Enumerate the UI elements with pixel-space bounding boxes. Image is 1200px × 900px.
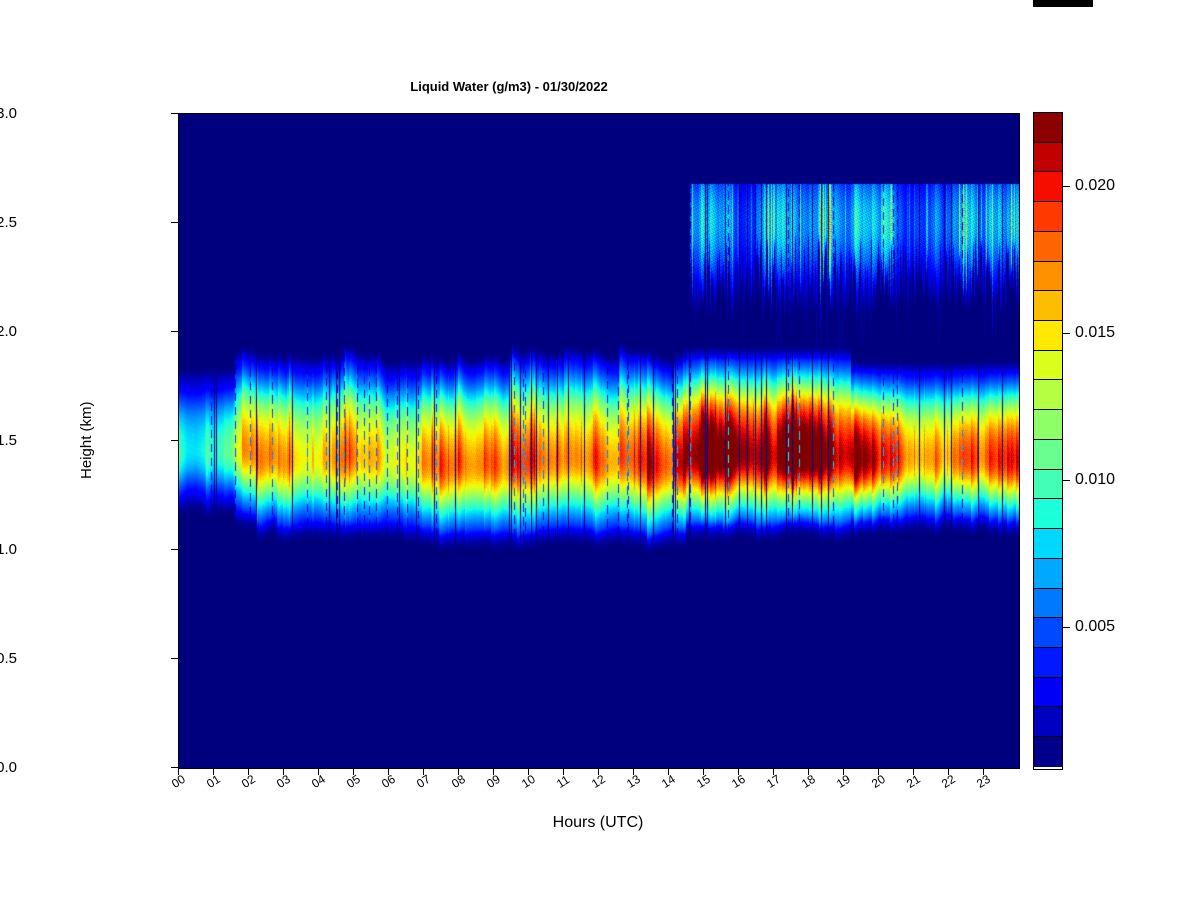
y-tick-mark [171, 222, 178, 223]
x-tick-label: 01 [204, 772, 223, 791]
colorbar-tick-mark [1062, 480, 1070, 481]
y-tick-label: 3.0 [0, 105, 17, 122]
colorbar-segment [1034, 737, 1062, 767]
colorbar-segment [1034, 648, 1062, 678]
y-tick-label: 0.5 [0, 650, 17, 667]
colorbar-tick-mark [1062, 333, 1070, 334]
colorbar-segment [1034, 410, 1062, 440]
x-tick-label: 22 [939, 772, 958, 791]
x-tick-label: 08 [449, 772, 468, 791]
top-right-artifact-bar [1033, 0, 1093, 7]
x-tick-label: 18 [799, 772, 818, 791]
x-tick-label: 04 [309, 772, 328, 791]
colorbar-segment [1034, 678, 1062, 708]
colorbar-segment [1034, 202, 1062, 232]
colorbar-segment [1034, 470, 1062, 500]
colorbar-segment [1034, 589, 1062, 619]
colorbar [1033, 112, 1063, 770]
x-tick-label: 07 [414, 772, 433, 791]
x-tick-label: 16 [729, 772, 748, 791]
x-tick-label: 12 [589, 772, 608, 791]
colorbar-segment [1034, 707, 1062, 737]
chart-title: Liquid Water (g/m3) - 01/30/2022 [0, 79, 1018, 94]
y-tick-mark [171, 113, 178, 114]
colorbar-segment [1034, 143, 1062, 173]
y-tick-label: 1.5 [0, 432, 17, 449]
colorbar-segment [1034, 321, 1062, 351]
heatmap-image [179, 114, 1019, 768]
y-tick-label: 0.0 [0, 759, 17, 776]
x-tick-label: 03 [274, 772, 293, 791]
y-tick-mark [171, 767, 178, 768]
y-axis-label: Height (km) [78, 401, 95, 479]
x-tick-label: 10 [519, 772, 538, 791]
x-tick-label: 09 [484, 772, 503, 791]
figure-canvas: Liquid Water (g/m3) - 01/30/2022 Height … [0, 0, 1200, 900]
colorbar-tick-mark [1062, 186, 1070, 187]
heatmap-plot-area [178, 113, 1020, 769]
x-tick-label: 17 [764, 772, 783, 791]
x-tick-label: 06 [379, 772, 398, 791]
colorbar-segment [1034, 172, 1062, 202]
y-tick-mark [171, 331, 178, 332]
x-tick-label: 19 [834, 772, 853, 791]
colorbar-segment [1034, 559, 1062, 589]
colorbar-tick-mark [1062, 627, 1070, 628]
colorbar-segment [1034, 262, 1062, 292]
x-tick-label: 21 [904, 772, 923, 791]
colorbar-segment [1034, 291, 1062, 321]
x-tick-label: 23 [974, 772, 993, 791]
x-tick-label: 20 [869, 772, 888, 791]
y-tick-label: 1.0 [0, 541, 17, 558]
y-tick-mark [171, 549, 178, 550]
colorbar-segment [1034, 351, 1062, 381]
colorbar-tick-label: 0.010 [1075, 471, 1115, 489]
x-tick-label: 15 [694, 772, 713, 791]
colorbar-segment [1034, 380, 1062, 410]
colorbar-tick-label: 0.015 [1075, 324, 1115, 342]
x-tick-label: 05 [344, 772, 363, 791]
colorbar-segment [1034, 618, 1062, 648]
colorbar-segment [1034, 499, 1062, 529]
colorbar-segment [1034, 440, 1062, 470]
y-tick-mark [171, 658, 178, 659]
colorbar-segment [1034, 529, 1062, 559]
colorbar-tick-label: 0.005 [1075, 618, 1115, 636]
x-tick-label: 14 [659, 772, 678, 791]
x-tick-label: 11 [554, 772, 572, 790]
y-tick-label: 2.5 [0, 214, 17, 231]
y-tick-mark [171, 440, 178, 441]
colorbar-tick-label: 0.020 [1075, 177, 1115, 195]
colorbar-segment [1034, 113, 1062, 143]
colorbar-segment [1034, 232, 1062, 262]
x-tick-label: 02 [239, 772, 258, 791]
x-tick-label: 13 [624, 772, 643, 791]
x-axis-label: Hours (UTC) [178, 814, 1018, 832]
x-tick-label: 00 [169, 772, 188, 791]
y-tick-label: 2.0 [0, 323, 17, 340]
